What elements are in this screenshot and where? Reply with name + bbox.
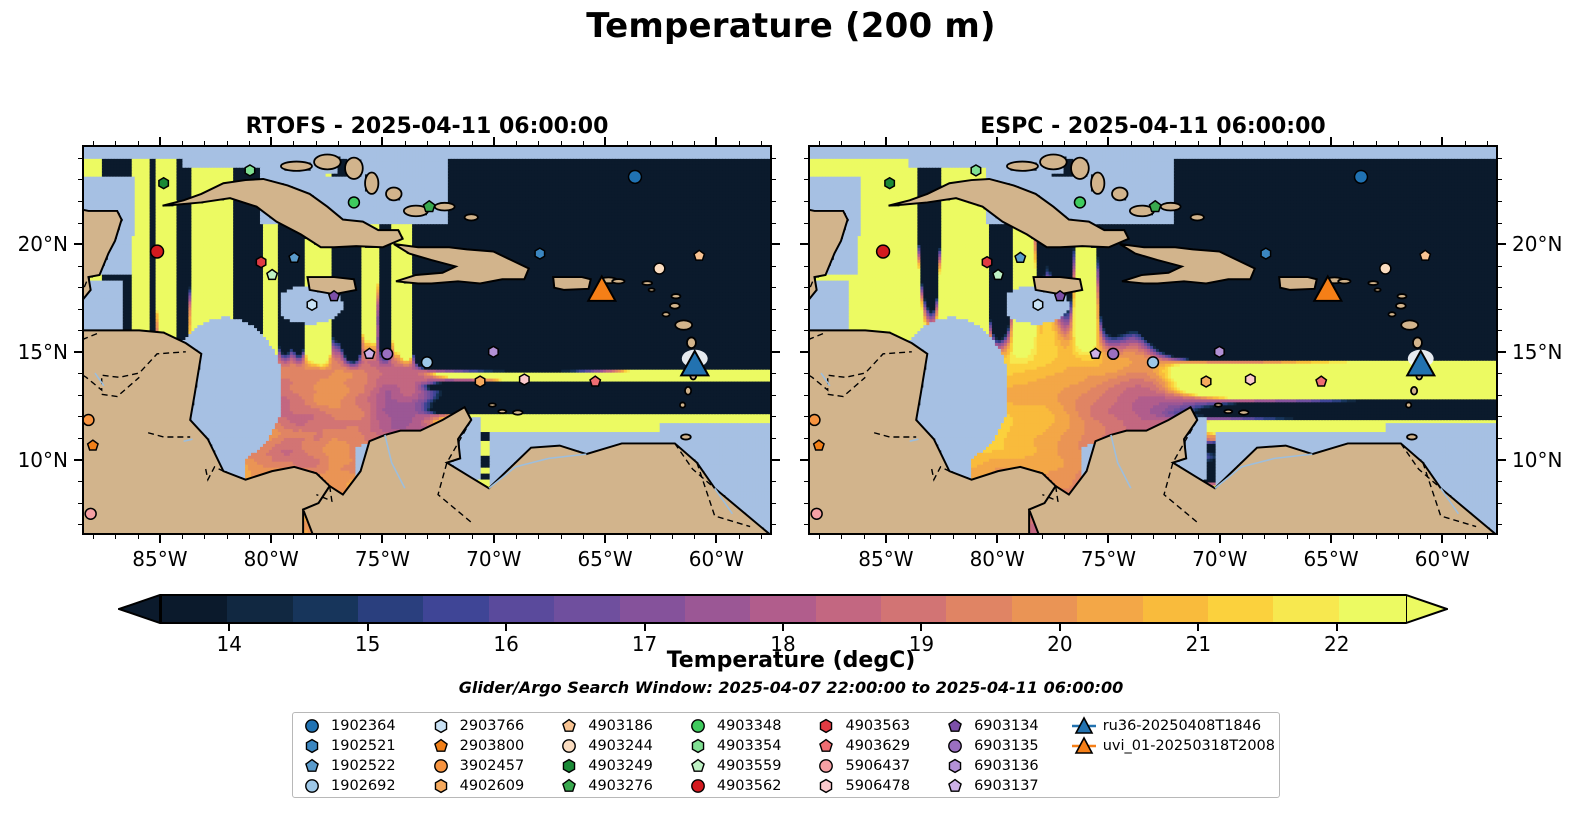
legend-marker-pentagon [685,756,711,776]
xtick-minor-top [1465,141,1466,145]
xtick-minor-top [1086,141,1087,145]
colorbar-segment [162,596,230,622]
xtick-minor-top [405,141,406,145]
legend-label: 1902364 [331,719,396,734]
ytick-minor-r [1498,266,1502,267]
xtick-minor-top [1242,141,1243,145]
ytick-label-right: 15°N [1512,340,1582,364]
legend-marker-circle [556,736,582,756]
legend-marker-pentagon [299,756,325,776]
colorbar-segment [816,596,884,622]
xtick-minor-top [841,141,842,145]
xtick-minor-top [1042,141,1043,145]
xtick-minor-top [739,141,740,145]
xtick-minor [1309,535,1310,539]
legend-item[interactable]: 6903136 [942,756,1071,776]
xtick-minor [1198,535,1199,539]
colorbar-label: Temperature (degC) [0,648,1582,673]
legend-item[interactable]: 4903563 [813,716,942,736]
legend-label: ru36-20250408T1846 [1103,719,1261,734]
ytick-major [74,243,82,245]
legend-marker [428,736,454,756]
colorbar-tick [1336,624,1338,631]
legend-label: 1902692 [331,779,396,794]
colorbar-tick [644,624,646,631]
legend-marker-circle [299,716,325,736]
ytick-major [800,459,808,461]
legend-marker [299,716,325,736]
ytick-minor [804,438,808,439]
legend-marker-pentagon [556,716,582,736]
ytick-label: 20°N [0,232,68,256]
xtick-minor-top [1487,141,1488,145]
legend-item[interactable]: 4903348 [685,716,814,736]
ytick-minor [78,438,82,439]
xtick-minor-top [182,141,183,145]
ytick-minor-r [772,481,776,482]
xtick-minor-top [761,141,762,145]
legend-item[interactable]: 4903276 [556,776,685,796]
xtick-major [493,535,495,543]
legend-marker [813,716,839,736]
map-panel-rtofs[interactable] [82,145,772,535]
legend-marker-hexagon [556,756,582,776]
xtick-minor [538,535,539,539]
xtick-minor [449,535,450,539]
legend-label: 4902609 [460,779,525,794]
colorbar-extend-min [118,594,160,624]
colorbar-segment [1143,596,1211,622]
xtick-minor-top [583,141,584,145]
legend-marker-glider [1071,736,1097,756]
xtick-minor [1398,535,1399,539]
xtick-minor-top [538,141,539,145]
xtick-label: 75°W [322,547,442,571]
xtick-minor-top [472,141,473,145]
ytick-minor [804,266,808,267]
ytick-minor-r [772,330,776,331]
xtick-label: 85°W [826,547,946,571]
xtick-minor [93,535,94,539]
colorbar-tick [505,624,507,631]
ytick-minor [78,179,82,180]
legend-item[interactable]: 3902457 [428,756,557,776]
legend-item[interactable]: 4903186 [556,716,685,736]
colorbar-tick [1197,624,1199,631]
legend-marker [556,716,582,736]
xtick-minor [1131,535,1132,539]
legend-item[interactable]: uvi_01-20250318T2008 [1071,736,1275,756]
xtick-minor [1064,535,1065,539]
legend-marker-circle [813,756,839,776]
xtick-minor [1420,535,1421,539]
xtick-major-top [270,137,272,145]
legend-marker-pentagon [556,776,582,796]
legend-item[interactable]: 4903559 [685,756,814,776]
xtick-minor-top [953,141,954,145]
xtick-minor-top [694,141,695,145]
legend-item[interactable]: 1902522 [299,756,428,776]
xtick-minor-top [316,141,317,145]
xtick-minor-top [204,141,205,145]
legend-label: 4903249 [588,759,653,774]
xtick-minor [761,535,762,539]
ytick-minor [804,503,808,504]
figure: Temperature (200 m) RTOFS - 2025-04-11 0… [0,0,1582,827]
xtick-minor [739,535,740,539]
xtick-minor [427,535,428,539]
colorbar-segment [489,596,557,622]
xtick-minor [249,535,250,539]
ytick-major [800,351,808,353]
legend-marker-hexagon [813,716,839,736]
ytick-minor-r [772,373,776,374]
xtick-minor-top [338,141,339,145]
ytick-minor [78,373,82,374]
legend-item[interactable]: 2903800 [428,736,557,756]
figure-suptitle: Temperature (200 m) [0,6,1582,46]
ytick-major [800,243,808,245]
xtick-minor [182,535,183,539]
ytick-major-r [1498,243,1506,245]
ytick-major [74,459,82,461]
ytick-minor [804,287,808,288]
xtick-minor-top [864,141,865,145]
legend-item[interactable]: 4903244 [556,736,685,756]
legend-label: 6903136 [974,759,1039,774]
xtick-minor [1019,535,1020,539]
xtick-label: 60°W [1382,547,1502,571]
ytick-minor [804,416,808,417]
legend-label: 6903134 [974,719,1039,734]
legend-item[interactable]: 4903629 [813,736,942,756]
legend-marker [556,736,582,756]
colorbar-segment [293,596,361,622]
ytick-major-r [772,459,780,461]
xtick-label: 65°W [545,547,665,571]
ytick-minor-r [1498,158,1502,159]
legend-item[interactable]: 1902364 [299,716,428,736]
ytick-minor-r [772,438,776,439]
xtick-minor [1353,535,1354,539]
colorbar-segment [1339,596,1407,622]
legend-label: 2903766 [460,719,525,734]
colorbar-bar [160,594,1406,624]
xtick-minor [1086,535,1087,539]
ytick-label: 10°N [0,448,68,472]
xtick-minor [561,535,562,539]
xtick-minor [405,535,406,539]
ytick-minor-r [1498,330,1502,331]
ytick-minor [78,395,82,396]
legend-marker [685,716,711,736]
xtick-minor-top [975,141,976,145]
xtick-major-top [1219,137,1221,145]
ytick-minor [78,503,82,504]
xtick-minor [1042,535,1043,539]
legend-marker [1071,736,1097,756]
ytick-minor [78,158,82,159]
xtick-minor [819,535,820,539]
legend-label: 3902457 [460,759,525,774]
legend-marker [556,756,582,776]
xtick-major-top [159,137,161,145]
legend-marker [428,776,454,796]
xtick-minor-top [1198,141,1199,145]
legend-item[interactable]: 4902609 [428,776,557,796]
ytick-minor-r [1498,503,1502,504]
legend-label: 6903135 [974,739,1039,754]
xtick-minor [115,535,116,539]
legend-item[interactable]: 6903134 [942,716,1071,736]
xtick-minor [650,535,651,539]
xtick-minor-top [561,141,562,145]
legend-label: 4903354 [717,739,782,754]
legend-marker-circle [299,776,325,796]
ytick-minor-r [1498,287,1502,288]
colorbar-segment [620,596,688,622]
xtick-label: 70°W [434,547,554,571]
xtick-label: 70°W [1160,547,1280,571]
legend-item[interactable]: 4903249 [556,756,685,776]
legend-item[interactable]: 4903354 [685,736,814,756]
legend-marker-circle [942,736,968,756]
ytick-minor-r [772,524,776,525]
legend-marker [942,776,968,796]
legend-marker [813,736,839,756]
xtick-major-top [604,137,606,145]
xtick-minor [1264,535,1265,539]
legend-marker [428,716,454,736]
ytick-major-r [1498,351,1506,353]
xtick-label: 65°W [1271,547,1391,571]
legend-item[interactable]: 4903562 [685,776,814,796]
legend-marker [685,736,711,756]
ytick-minor-r [772,503,776,504]
legend-label: 1902521 [331,739,396,754]
xtick-minor [516,535,517,539]
xtick-minor-top [360,141,361,145]
legend-marker [556,776,582,796]
ytick-minor-r [1498,201,1502,202]
xtick-minor-top [449,141,450,145]
legend-marker [942,716,968,736]
legend-marker-hexagon [685,736,711,756]
xtick-minor-top [672,141,673,145]
xtick-minor-top [819,141,820,145]
colorbar-tick [782,624,784,631]
colorbar-segment [227,596,295,622]
xtick-minor-top [227,141,228,145]
rtofs-temperature-map [84,147,770,533]
xtick-minor [1376,535,1377,539]
ytick-minor [804,179,808,180]
xtick-major-top [1330,137,1332,145]
xtick-label: 80°W [937,547,1057,571]
legend-label: 4903244 [588,739,653,754]
xtick-minor [864,535,865,539]
ytick-minor [804,309,808,310]
legend-item[interactable]: 6903137 [942,776,1071,796]
xtick-minor [627,535,628,539]
legend-label: 4903629 [845,739,910,754]
legend-marker-circle [685,776,711,796]
legend-item[interactable]: 1902521 [299,736,428,756]
xtick-minor-top [1264,141,1265,145]
legend-label: 4903562 [717,779,782,794]
xtick-minor [583,535,584,539]
ytick-minor [78,287,82,288]
legend-marker [942,736,968,756]
xtick-major [885,535,887,543]
xtick-minor-top [93,141,94,145]
legend-marker [428,756,454,776]
ytick-label: 15°N [0,340,68,364]
ytick-minor-r [1498,373,1502,374]
xtick-label: 85°W [100,547,220,571]
xtick-label: 60°W [656,547,776,571]
ytick-minor-r [772,223,776,224]
xtick-minor-top [1153,141,1154,145]
colorbar-tick [367,624,369,631]
legend-marker [685,756,711,776]
ytick-minor [78,201,82,202]
legend-label: 4903563 [845,719,910,734]
xtick-minor [1175,535,1176,539]
legend-item[interactable]: 6903135 [942,736,1071,756]
legend-item[interactable]: 5906478 [813,776,942,796]
ytick-minor [804,201,808,202]
xtick-minor-top [115,141,116,145]
xtick-minor-top [1309,141,1310,145]
ytick-minor [804,223,808,224]
xtick-minor [1487,535,1488,539]
marker-legend[interactable]: 1902364190252119025221902692290376629038… [292,712,1280,798]
xtick-minor [204,535,205,539]
colorbar-tick [1059,624,1061,631]
colorbar-segment [881,596,949,622]
xtick-minor-top [627,141,628,145]
ytick-minor-r [1498,395,1502,396]
legend-item[interactable]: 2903766 [428,716,557,736]
map-panel-espc[interactable] [808,145,1498,535]
ytick-minor [78,524,82,525]
ytick-minor [804,395,808,396]
ytick-minor [804,158,808,159]
legend-item[interactable]: 5906437 [813,756,942,776]
colorbar-segment [554,596,622,622]
xtick-major-top [885,137,887,145]
legend-label: 2903800 [460,739,525,754]
xtick-minor-top [1019,141,1020,145]
xtick-major [715,535,717,543]
xtick-minor [930,535,931,539]
xtick-minor [1242,535,1243,539]
xtick-minor-top [1353,141,1354,145]
xtick-major [159,535,161,543]
legend-marker-pentagon [942,716,968,736]
xtick-minor [841,535,842,539]
ytick-minor-r [772,395,776,396]
legend-marker [813,776,839,796]
legend-item[interactable]: ru36-20250408T1846 [1071,716,1275,736]
xtick-minor-top [1287,141,1288,145]
ytick-minor-r [772,309,776,310]
colorbar[interactable]: 141516171819202122 [118,594,1448,624]
panel-title-rtofs: RTOFS - 2025-04-11 06:00:00 [82,114,772,140]
xtick-minor [1153,535,1154,539]
legend-label: 4903559 [717,759,782,774]
xtick-major-top [715,137,717,145]
legend-marker [685,776,711,796]
colorbar-segment [1077,596,1145,622]
legend-marker [299,776,325,796]
xtick-minor [360,535,361,539]
ytick-minor-r [1498,179,1502,180]
legend-marker-hexagon [428,776,454,796]
ytick-minor-r [772,287,776,288]
xtick-minor-top [1376,141,1377,145]
legend-marker-hexagon [428,716,454,736]
legend-label: 6903137 [974,779,1039,794]
xtick-major-top [1107,137,1109,145]
xtick-minor-top [516,141,517,145]
legend-label: 4903186 [588,719,653,734]
ytick-minor-r [772,201,776,202]
legend-marker-pentagon [813,736,839,756]
xtick-major-top [1441,137,1443,145]
colorbar-segment [1208,596,1276,622]
legend-marker-glider [1071,716,1097,736]
ytick-minor [78,481,82,482]
ytick-minor [804,373,808,374]
legend-label: 4903348 [717,719,782,734]
xtick-minor-top [1131,141,1132,145]
legend-marker-hexagon [813,776,839,796]
ytick-minor [804,524,808,525]
search-window-caption: Glider/Argo Search Window: 2025-04-07 22… [0,678,1582,697]
xtick-minor [975,535,976,539]
ytick-minor-r [772,266,776,267]
xtick-major-top [381,137,383,145]
ytick-major-r [1498,459,1506,461]
ytick-minor [78,309,82,310]
ytick-minor [804,330,808,331]
ytick-minor-r [1498,223,1502,224]
xtick-minor-top [427,141,428,145]
xtick-major [1441,535,1443,543]
xtick-major [996,535,998,543]
xtick-label: 80°W [211,547,331,571]
legend-label: 1902522 [331,759,396,774]
ytick-minor [78,416,82,417]
xtick-major [1330,535,1332,543]
colorbar-tick [228,624,230,631]
ytick-major-r [772,351,780,353]
legend-marker [813,756,839,776]
ytick-label-right: 20°N [1512,232,1582,256]
xtick-minor [953,535,954,539]
xtick-minor [1287,535,1288,539]
legend-marker-circle [685,716,711,736]
legend-item[interactable]: 1902692 [299,776,428,796]
xtick-minor [472,535,473,539]
xtick-minor-top [138,141,139,145]
ytick-label-right: 10°N [1512,448,1582,472]
ytick-minor-r [1498,524,1502,525]
colorbar-tick [920,624,922,631]
xtick-major [604,535,606,543]
